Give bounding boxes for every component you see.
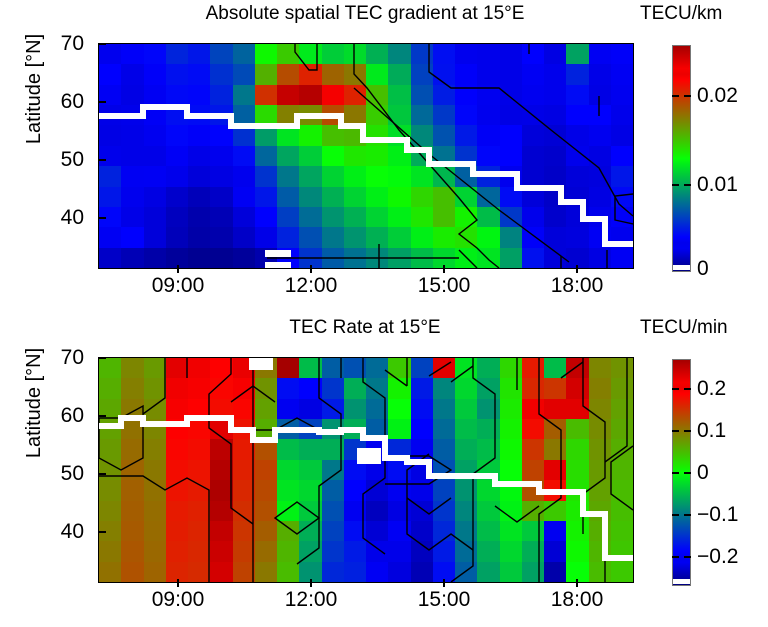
heatmap-cell: [477, 105, 499, 125]
heatmap-cell: [255, 562, 277, 582]
heatmap-cell: [477, 541, 499, 561]
heatmap-cell: [233, 187, 255, 207]
heatmap-cell: [566, 146, 588, 166]
x-tick-label-top-3: 18:00: [522, 275, 632, 296]
heatmap-cell: [433, 460, 455, 480]
heatmap-cell: [188, 419, 210, 439]
heatmap-cell: [388, 187, 410, 207]
heatmap-cell: [611, 501, 633, 521]
heatmap-cell: [299, 146, 321, 166]
heatmap-cell: [121, 439, 143, 459]
heatmap-cell: [166, 439, 188, 459]
heatmap-cell: [233, 439, 255, 459]
heatmap-cell: [366, 105, 388, 125]
heatmap-cell: [144, 187, 166, 207]
heatmap-cell: [544, 521, 566, 541]
heatmap-cell: [277, 248, 299, 268]
heatmap-cell: [522, 378, 544, 398]
heatmap-cell: [477, 64, 499, 84]
heatmap-cell: [344, 105, 366, 125]
x-tick-label-top-1: 12:00: [256, 275, 366, 296]
heatmap-cell: [388, 44, 410, 64]
heatmap-cell: [566, 105, 588, 125]
heatmap-cell: [433, 439, 455, 459]
heatmap-cell: [611, 358, 633, 378]
heatmap-cell: [566, 419, 588, 439]
heatmap-cell: [255, 480, 277, 500]
heatmap-cell: [388, 85, 410, 105]
heatmap-cell: [144, 64, 166, 84]
heatmap-cell: [433, 541, 455, 561]
heatmap-cell: [455, 85, 477, 105]
heatmap-cell: [477, 501, 499, 521]
heatmap-cell: [210, 399, 232, 419]
heatmap-cell: [366, 399, 388, 419]
heatmap-cell: [99, 125, 121, 145]
heatmap-cell: [255, 44, 277, 64]
heatmap-cell: [366, 146, 388, 166]
heatmap-cell: [455, 105, 477, 125]
heatmap-cell: [500, 399, 522, 419]
heatmap-cell: [210, 105, 232, 125]
heatmap-cell: [477, 125, 499, 145]
y-tick-bottom-2: [98, 473, 106, 475]
heatmap-cell: [99, 248, 121, 268]
heatmap-cell: [322, 439, 344, 459]
heatmap-cell: [210, 64, 232, 84]
y-tick-top-2: [98, 159, 106, 161]
heatmap-cell: [277, 146, 299, 166]
heatmap-cell: [322, 64, 344, 84]
heatmap-cell: [255, 166, 277, 186]
heatmap-cell: [522, 125, 544, 145]
heatmap-cell: [322, 378, 344, 398]
heatmap-cell: [277, 85, 299, 105]
colorbar-tick-bottom-0: [672, 388, 679, 390]
heatmap-cell: [121, 460, 143, 480]
heatmap-cell: [233, 399, 255, 419]
heatmap-cell: [121, 501, 143, 521]
heatmap-cell: [322, 187, 344, 207]
heatmap-cell: [233, 501, 255, 521]
heatmap-cell: [344, 85, 366, 105]
heatmap-cell: [500, 480, 522, 500]
heatmap-cell: [344, 399, 366, 419]
heatmap-cell: [500, 378, 522, 398]
colorbar-label-bottom-3: −0.1: [697, 504, 738, 525]
heatmap-cell: [255, 125, 277, 145]
heatmap-cell: [611, 562, 633, 582]
heatmap-cell: [277, 227, 299, 247]
heatmap-cell: [322, 419, 344, 439]
y-tick-label-bottom-1: 60: [0, 405, 84, 426]
heatmap-cell: [299, 378, 321, 398]
heatmap-cell: [99, 419, 121, 439]
heatmap-cell: [544, 358, 566, 378]
heatmap-cell: [166, 378, 188, 398]
heatmap-cell: [589, 44, 611, 64]
heatmap-cell: [121, 480, 143, 500]
heatmap-cell: [455, 501, 477, 521]
heatmap-cell: [210, 166, 232, 186]
heatmap-cell: [500, 207, 522, 227]
heatmap-cell: [121, 105, 143, 125]
heatmap-cell: [233, 125, 255, 145]
heatmap-cell: [210, 358, 232, 378]
heatmap-cell: [433, 480, 455, 500]
heatmap-cell: [322, 541, 344, 561]
heatmap-cell: [388, 64, 410, 84]
heatmap-cell: [611, 248, 633, 268]
heatmap-cell: [455, 419, 477, 439]
colorbar-label-top-2: 0: [697, 258, 709, 279]
heatmap-cell: [210, 248, 232, 268]
heatmap-cell: [388, 146, 410, 166]
heatmap-cell: [477, 378, 499, 398]
heatmap-cell: [99, 480, 121, 500]
heatmap-cell: [255, 105, 277, 125]
heatmap-cell: [233, 207, 255, 227]
heatmap-cell: [411, 541, 433, 561]
heatmap-cell: [611, 187, 633, 207]
heatmap-cell: [366, 562, 388, 582]
heatmap-cell: [388, 358, 410, 378]
heatmap-cell: [411, 146, 433, 166]
heatmap-cell: [299, 480, 321, 500]
heatmap-cell: [121, 399, 143, 419]
heatmap-cell: [433, 187, 455, 207]
heatmap-cell: [366, 207, 388, 227]
colorbar-top: [672, 45, 691, 272]
heatmap-cell: [322, 227, 344, 247]
heatmap-cell: [121, 562, 143, 582]
x-tick-label-bottom-3: 18:00: [522, 589, 632, 610]
heatmap-cell: [411, 64, 433, 84]
heatmap-cell: [322, 166, 344, 186]
heatmap-cell: [589, 85, 611, 105]
heatmap-cell: [144, 460, 166, 480]
heatmap-cell: [411, 227, 433, 247]
heatmap-cell: [589, 541, 611, 561]
heatmap-cell: [210, 419, 232, 439]
heatmap-cell: [455, 227, 477, 247]
heatmap-cell: [544, 501, 566, 521]
heatmap-cell: [144, 439, 166, 459]
heatmap-cell: [566, 227, 588, 247]
heatmap-cell: [210, 460, 232, 480]
colorbar-tick-bottom-1: [672, 430, 679, 432]
heatmap-cell: [411, 207, 433, 227]
heatmap-cell: [388, 125, 410, 145]
panel-top: Absolute spatial TEC gradient at 15°E TE…: [0, 0, 768, 313]
heatmap-cell: [500, 501, 522, 521]
heatmap-cell: [366, 439, 388, 459]
heatmap-cell: [166, 399, 188, 419]
heatmap-cell: [188, 378, 210, 398]
heatmap-cell: [166, 480, 188, 500]
heatmap-cell: [322, 480, 344, 500]
heatmap-cell: [411, 358, 433, 378]
heatmap-cell: [255, 521, 277, 541]
heatmap-cell: [566, 480, 588, 500]
heatmap-cell: [411, 166, 433, 186]
heatmap-cell: [299, 207, 321, 227]
heatmap-cell: [455, 146, 477, 166]
heatmap-cell: [188, 105, 210, 125]
heatmap-cell: [277, 166, 299, 186]
heatmap-cell: [522, 562, 544, 582]
heatmap-cell: [411, 521, 433, 541]
colorbar-title-top: TECU/km: [640, 2, 768, 26]
heatmap-cell: [589, 166, 611, 186]
heatmap-cell: [144, 399, 166, 419]
heatmap-cell: [121, 419, 143, 439]
heatmap-cell: [433, 399, 455, 419]
heatmap-cell: [344, 439, 366, 459]
heatmap-cell: [277, 521, 299, 541]
heatmap-cell: [255, 85, 277, 105]
heatmap-cell: [210, 85, 232, 105]
heatmap-cell: [522, 248, 544, 268]
heatmap-cell: [210, 227, 232, 247]
heatmap-cell: [144, 125, 166, 145]
heatmap-cell: [366, 521, 388, 541]
heatmap-cell: [522, 358, 544, 378]
heatmap-cell: [277, 105, 299, 125]
heatmap-cell: [188, 248, 210, 268]
heatmap-cell: [522, 85, 544, 105]
x-tick-label-bottom-0: 09:00: [123, 589, 233, 610]
heatmap-cell: [455, 125, 477, 145]
heatmap-cell: [99, 562, 121, 582]
heatmap-cell: [255, 419, 277, 439]
heatmap-cell: [522, 501, 544, 521]
heatmap-cell: [166, 521, 188, 541]
heatmap-cell: [544, 146, 566, 166]
heatmap-cell: [544, 125, 566, 145]
heatmap-cell: [366, 44, 388, 64]
heatmap-cell: [233, 227, 255, 247]
heatmap-cell: [544, 480, 566, 500]
heatmap-cell: [589, 146, 611, 166]
heatmap-cell: [166, 64, 188, 84]
heatmap-cell: [566, 460, 588, 480]
heatmap-cell: [477, 146, 499, 166]
heatmap-cell: [277, 399, 299, 419]
heatmap-cell: [277, 207, 299, 227]
heatmap-cell: [121, 521, 143, 541]
heatmap-cell: [188, 480, 210, 500]
heatmap-cell: [277, 378, 299, 398]
heatmap-cell: [188, 521, 210, 541]
heatmap-cell: [366, 248, 388, 268]
heatmap-cell: [255, 227, 277, 247]
heatmap-cell: [366, 460, 388, 480]
heatmap-cell: [411, 378, 433, 398]
heatmap-cell: [277, 562, 299, 582]
heatmap-cell: [299, 85, 321, 105]
heatmap-cell: [477, 562, 499, 582]
heatmap-cell: [344, 187, 366, 207]
heatmap-cell: [144, 541, 166, 561]
x-tick-top-1: [310, 265, 312, 273]
y-tick-label-top-2: 50: [0, 149, 84, 170]
heatmap-cell: [388, 521, 410, 541]
heatmap-cell: [121, 64, 143, 84]
heatmap-cell: [433, 166, 455, 186]
heatmap-cell: [233, 419, 255, 439]
heatmap-cell: [121, 85, 143, 105]
heatmap-cell: [210, 207, 232, 227]
heatmap-cell: [144, 562, 166, 582]
heatmap-cell: [99, 64, 121, 84]
heatmap-cell: [99, 439, 121, 459]
heatmap-cell: [121, 125, 143, 145]
heatmap-cell: [188, 166, 210, 186]
heatmap-cell: [188, 227, 210, 247]
heatmap-cell: [210, 439, 232, 459]
heatmap-cell: [455, 399, 477, 419]
heatmap-cell: [566, 187, 588, 207]
heatmap-cell: [344, 248, 366, 268]
colorbar-tick-top-0r: [684, 95, 691, 97]
heatmap-cell: [166, 125, 188, 145]
heatmap-cell: [188, 541, 210, 561]
heatmap-cell: [455, 207, 477, 227]
heatmap-cell: [544, 419, 566, 439]
heatmap-cell: [144, 358, 166, 378]
heatmap-cell: [233, 378, 255, 398]
heatmap-cell: [589, 399, 611, 419]
heatmap-cell: [188, 439, 210, 459]
panel-bottom: TEC Rate at 15°E TECU/min Latitude [°N]: [0, 314, 768, 627]
heatmap-cell: [344, 207, 366, 227]
colorbar-min-cap-bottom: [673, 579, 690, 584]
heatmap-cell: [611, 378, 633, 398]
heatmap-cell: [166, 460, 188, 480]
heatmap-cell: [411, 248, 433, 268]
heatmap-cell: [99, 227, 121, 247]
heatmap-cell: [277, 125, 299, 145]
heatmap-cell: [121, 187, 143, 207]
y-tick-label-top-1: 60: [0, 91, 84, 112]
heatmap-cell: [210, 187, 232, 207]
heatmap-cell: [455, 378, 477, 398]
heatmap-cell: [366, 64, 388, 84]
heatmap-cell: [544, 44, 566, 64]
heatmap-cell: [522, 44, 544, 64]
x-tick-top-0: [177, 265, 179, 273]
heatmap-cell: [277, 541, 299, 561]
heatmap-cell: [188, 207, 210, 227]
heatmap-cell: [299, 439, 321, 459]
colorbar-tick-bottom-4r: [684, 556, 691, 558]
colorbar-tick-bottom-2r: [684, 472, 691, 474]
heatmap-cell: [411, 44, 433, 64]
heatmap-cell: [566, 378, 588, 398]
colorbar-label-bottom-4: −0.2: [697, 546, 738, 567]
x-tick-label-bottom-2: 15:00: [389, 589, 499, 610]
heatmap-cell: [166, 187, 188, 207]
heatmap-cell: [344, 460, 366, 480]
heatmap-cell: [522, 227, 544, 247]
heatmap-cell: [611, 439, 633, 459]
heatmap-cell: [299, 166, 321, 186]
heatmap-cell: [544, 541, 566, 561]
heatmap-cell: [388, 562, 410, 582]
heatmap-cell: [388, 378, 410, 398]
heatmap-cell: [322, 521, 344, 541]
heatmap-cell: [366, 419, 388, 439]
heatmap-cell: [99, 460, 121, 480]
heatmap-cell: [566, 207, 588, 227]
heatmap-cell: [566, 64, 588, 84]
heatmap-cell: [433, 44, 455, 64]
heatmap-cell: [366, 125, 388, 145]
heatmap-cell: [589, 187, 611, 207]
heatmap-cell: [388, 207, 410, 227]
y-tick-top-1: [98, 101, 106, 103]
heatmap-cell: [522, 460, 544, 480]
heatmap-cell: [233, 460, 255, 480]
heatmap-cell: [455, 358, 477, 378]
heatmap-cell: [144, 166, 166, 186]
heatmap-cell: [500, 105, 522, 125]
y-tick-top-0: [98, 43, 106, 45]
heatmap-cell: [344, 378, 366, 398]
heatmap-cell: [144, 105, 166, 125]
y-tick-bottom-0: [98, 357, 106, 359]
heatmap-cell: [544, 64, 566, 84]
heatmap-top: [99, 44, 633, 268]
heatmap-cell: [366, 358, 388, 378]
heatmap-cell: [344, 521, 366, 541]
heatmap-cell: [611, 399, 633, 419]
x-tick-label-bottom-1: 12:00: [256, 589, 366, 610]
heatmap-cell: [388, 541, 410, 561]
heatmap-cell: [411, 85, 433, 105]
colorbar-label-top-1: 0.01: [697, 174, 738, 195]
heatmap-cell: [388, 419, 410, 439]
heatmap-cell: [477, 439, 499, 459]
heatmap-cell: [344, 541, 366, 561]
heatmap-cell: [233, 358, 255, 378]
heatmap-cell: [277, 439, 299, 459]
panel-title-bottom: TEC Rate at 15°E: [98, 316, 632, 340]
heatmap-cell: [589, 521, 611, 541]
heatmap-cell: [477, 85, 499, 105]
heatmap-cell: [544, 85, 566, 105]
heatmap-cell: [522, 207, 544, 227]
colorbar-min-cap-top: [673, 265, 690, 270]
heatmap-cell: [500, 562, 522, 582]
heatmap-cell: [121, 207, 143, 227]
heatmap-cell: [210, 541, 232, 561]
heatmap-cell: [611, 460, 633, 480]
heatmap-cell: [566, 166, 588, 186]
heatmap-cell: [121, 166, 143, 186]
heatmap-cell: [411, 399, 433, 419]
heatmap-cell: [299, 358, 321, 378]
x-tick-bottom-3: [576, 579, 578, 587]
heatmap-cell: [233, 44, 255, 64]
axes-bottom: [98, 357, 634, 583]
heatmap-cell: [500, 248, 522, 268]
heatmap-cell: [322, 85, 344, 105]
heatmap-cell: [411, 187, 433, 207]
heatmap-cell: [433, 146, 455, 166]
heatmap-cell: [433, 358, 455, 378]
